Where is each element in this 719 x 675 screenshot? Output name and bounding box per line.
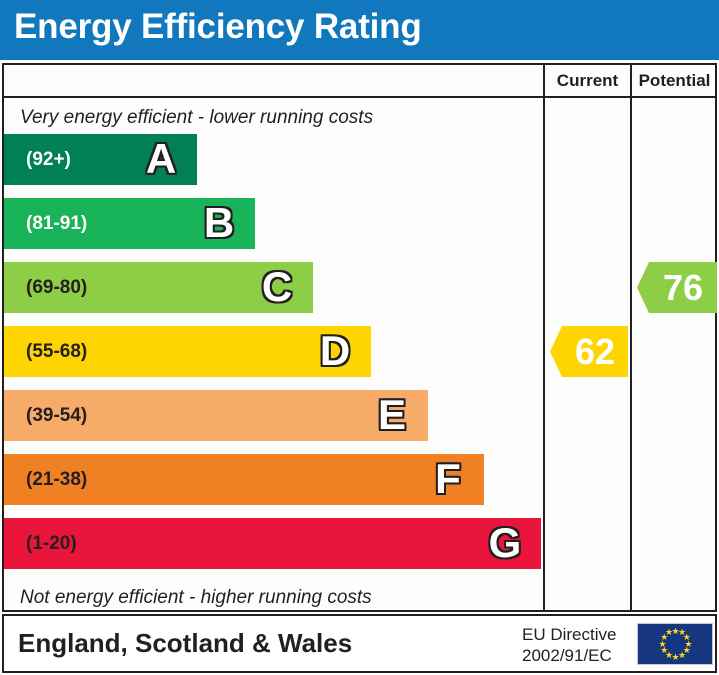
eu-flag-icon: ★★★★★★★★★★★★ bbox=[637, 623, 713, 665]
band-range-e: (39-54) bbox=[26, 390, 87, 441]
footer-bar: England, Scotland & Wales EU Directive 2… bbox=[2, 614, 717, 673]
rating-badge-current: 62 bbox=[550, 326, 628, 377]
band-letter-a: A bbox=[139, 134, 183, 185]
rating-badge-potential: 76 bbox=[637, 262, 717, 313]
band-letter-f: F bbox=[426, 454, 470, 505]
band-letter-e: E bbox=[370, 390, 414, 441]
current-column-divider bbox=[543, 65, 545, 610]
caption-inefficient: Not energy efficient - higher running co… bbox=[20, 587, 372, 609]
eu-directive-line1: EU Directive bbox=[522, 624, 616, 645]
page-title: Energy Efficiency Rating bbox=[14, 7, 422, 47]
caption-efficient: Very energy efficient - lower running co… bbox=[20, 107, 373, 129]
potential-column-header: Potential bbox=[632, 65, 717, 96]
current-column-header: Current bbox=[545, 65, 630, 96]
energy-efficiency-certificate: Energy Efficiency Rating Current Potenti… bbox=[0, 0, 719, 675]
eu-directive-label: EU Directive 2002/91/EC bbox=[522, 624, 616, 666]
rating-value-potential: 76 bbox=[651, 267, 703, 309]
band-letter-c: C bbox=[255, 262, 299, 313]
eu-directive-line2: 2002/91/EC bbox=[522, 645, 616, 666]
potential-column-divider bbox=[630, 65, 632, 610]
band-range-b: (81-91) bbox=[26, 198, 87, 249]
band-letter-g: G bbox=[483, 518, 527, 569]
title-bar: Energy Efficiency Rating bbox=[0, 0, 719, 60]
band-letter-b: B bbox=[197, 198, 241, 249]
region-label: England, Scotland & Wales bbox=[18, 628, 352, 659]
rating-chart: Current Potential Very energy efficient … bbox=[2, 63, 717, 612]
band-bar-g bbox=[4, 518, 541, 569]
band-range-c: (69-80) bbox=[26, 262, 87, 313]
eu-star-icon: ★ bbox=[665, 629, 672, 636]
rating-value-current: 62 bbox=[563, 331, 615, 373]
band-letter-d: D bbox=[313, 326, 357, 377]
band-range-g: (1-20) bbox=[26, 518, 77, 569]
band-range-d: (55-68) bbox=[26, 326, 87, 377]
band-range-f: (21-38) bbox=[26, 454, 87, 505]
band-range-a: (92+) bbox=[26, 134, 71, 185]
